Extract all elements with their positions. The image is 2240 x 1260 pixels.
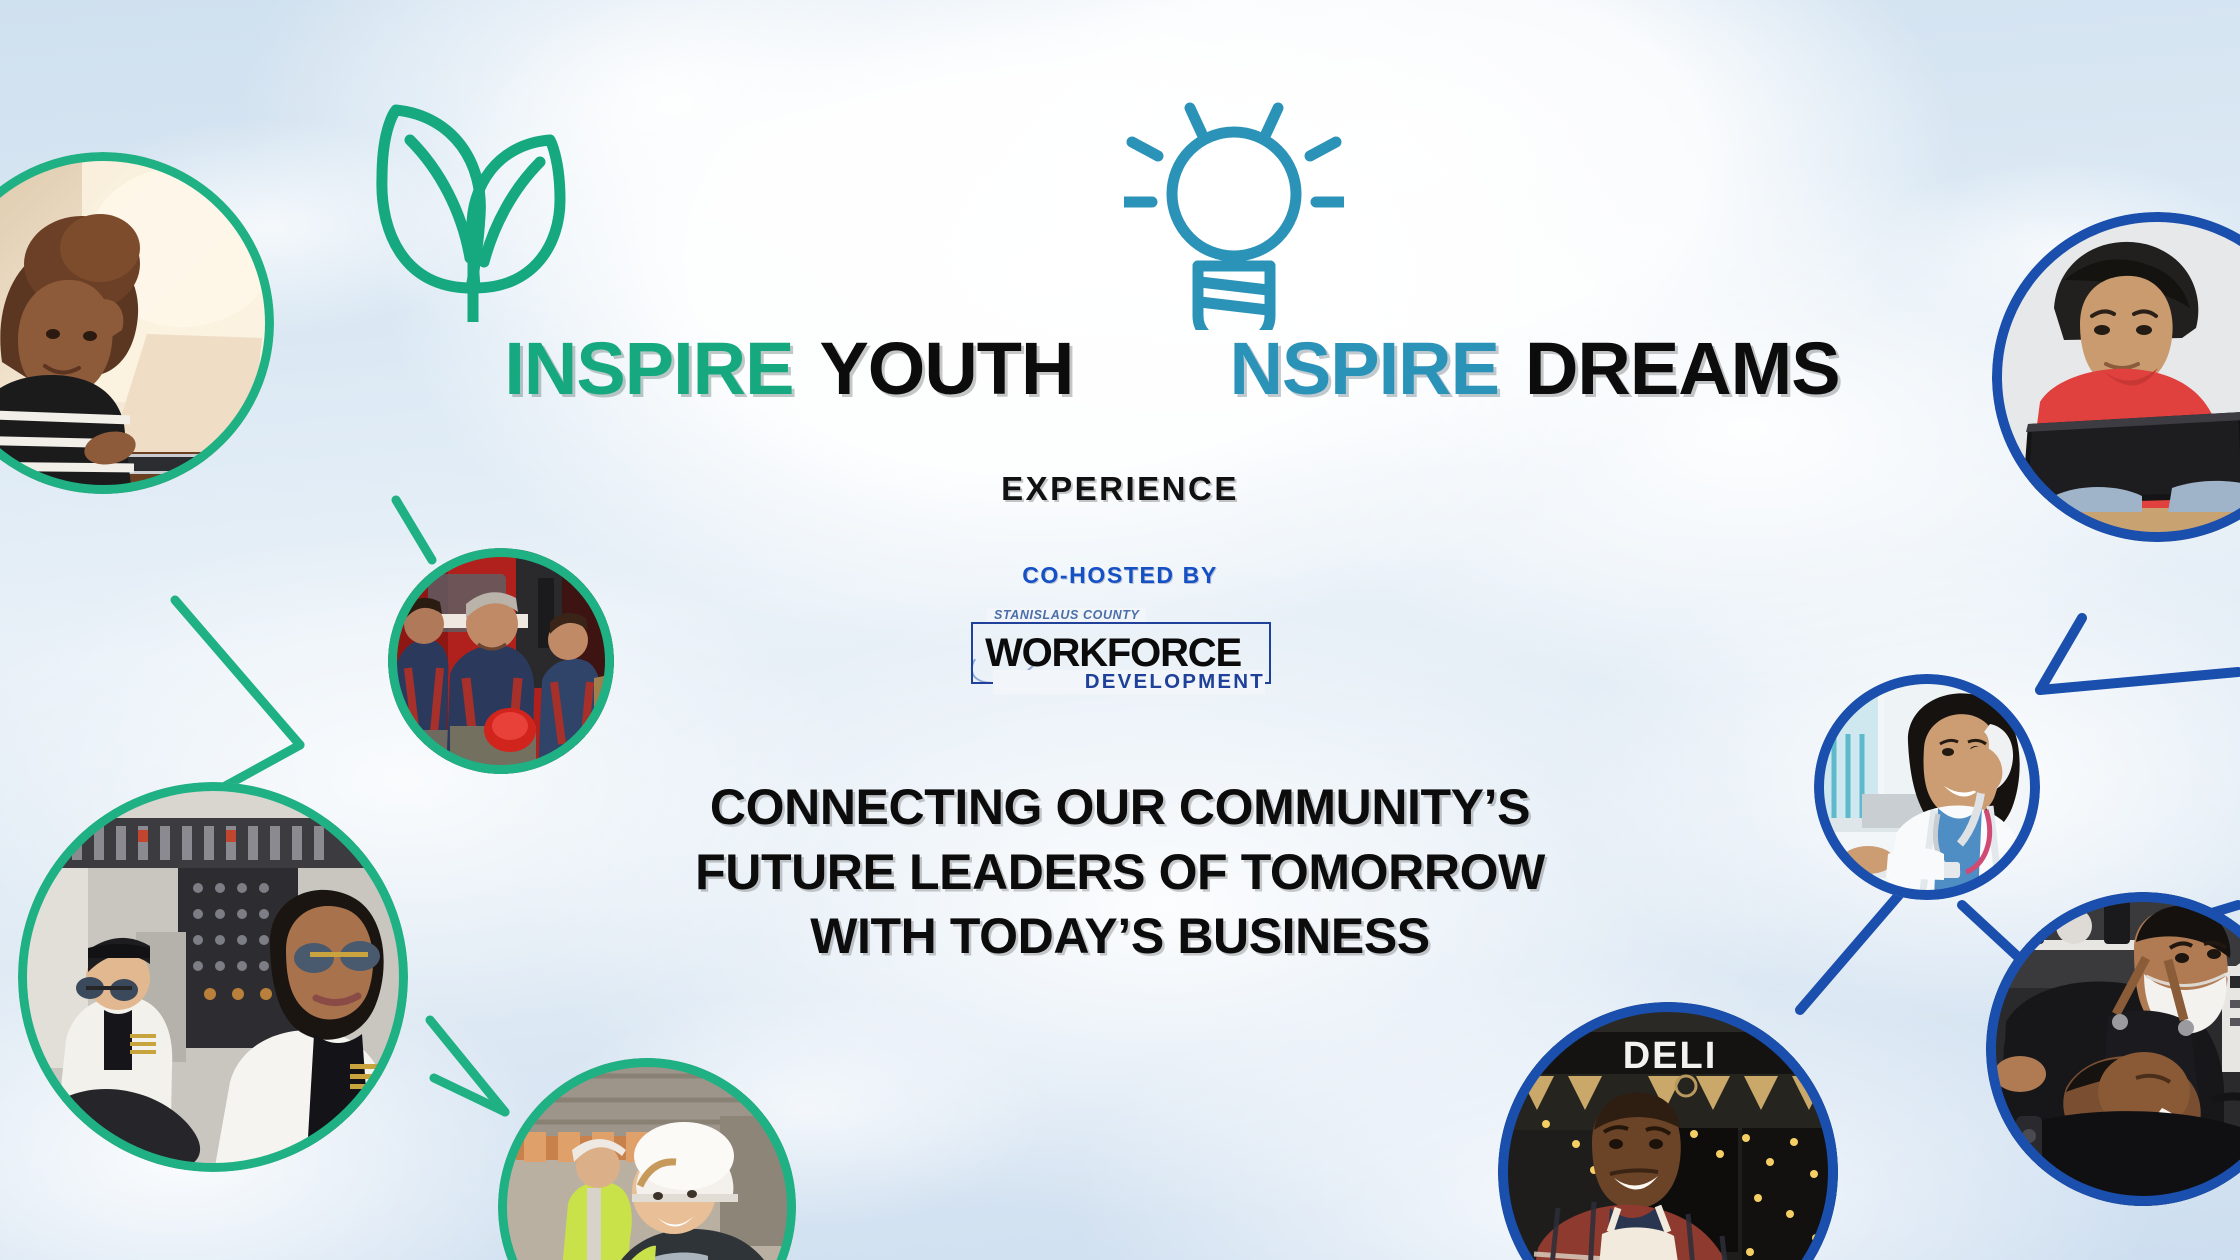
tagline-line-2: FUTURE LEADERS OF TOMORROW xyxy=(0,840,2240,905)
headline-dreams: DREAMS xyxy=(1525,326,1840,411)
cohosted-by-label: CO-HOSTED BY xyxy=(0,562,2240,589)
tagline-line-3: WITH TODAY’S BUSINESS xyxy=(0,904,2240,969)
tagline-line-1: CONNECTING OUR COMMUNITY’S xyxy=(0,775,2240,840)
logo-county-label: STANISLAUS COUNTY xyxy=(987,608,1146,622)
headline-nspire-blue: NSPIRE xyxy=(1229,326,1499,411)
sprout-icon xyxy=(358,92,588,322)
workforce-development-logo: STANISLAUS COUNTY WORKFORCE DEVELOPMENT xyxy=(963,617,1279,699)
lightbulb-icon xyxy=(1124,90,1344,330)
logo-development-text: DEVELOPMENT xyxy=(993,670,1265,694)
headline-youth: YOUTH xyxy=(819,326,1073,411)
headline-inspire-green: INSPIRE xyxy=(504,326,793,411)
page-title: INSPIRE YOUTH NSPIRE DREAMS xyxy=(0,300,2240,411)
tagline: CONNECTING OUR COMMUNITY’S FUTURE LEADER… xyxy=(0,775,2240,969)
experience-label: EXPERIENCE xyxy=(0,470,2240,508)
